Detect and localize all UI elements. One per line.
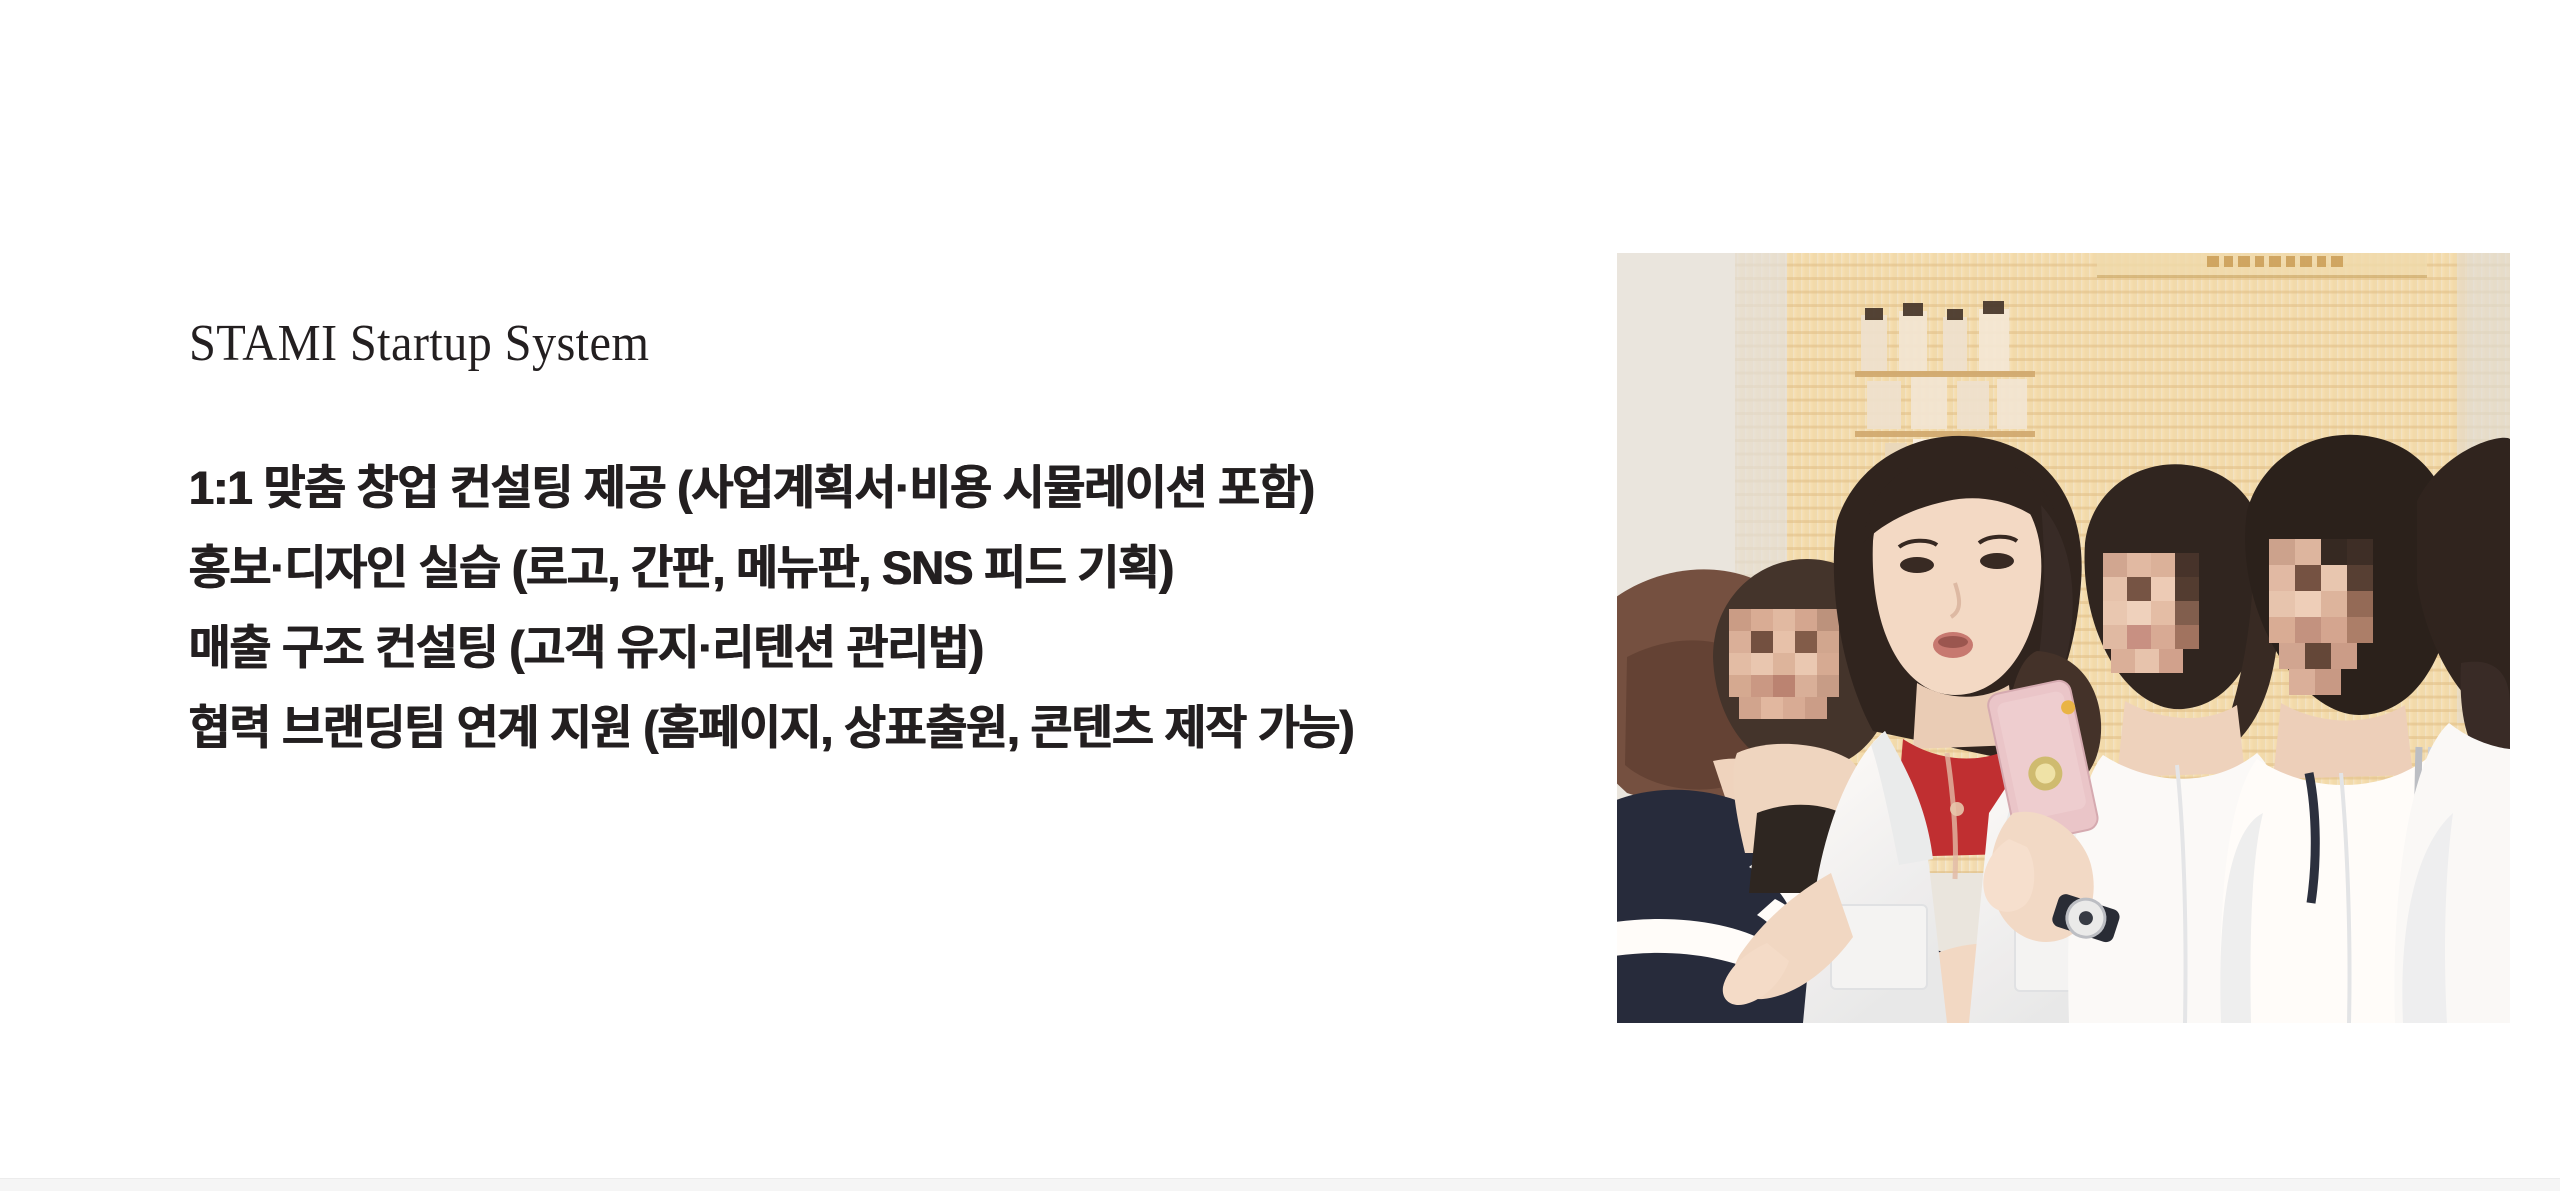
footer-band: [0, 1178, 2560, 1191]
list-item: 협력 브랜딩팀 연계 지원 (홈페이지, 상표출원, 콘텐츠 제작 가능): [189, 688, 1552, 768]
content-block: STAMI Startup System 1:1 맞춤 창업 컨설팅 제공 (사…: [189, 318, 1609, 768]
clinic-training-photo: [1617, 253, 2510, 1023]
list-item: 매출 구조 컨설팅 (고객 유지·리텐션 관리법): [189, 608, 1552, 688]
slide-canvas: STAMI Startup System 1:1 맞춤 창업 컨설팅 제공 (사…: [0, 0, 2560, 1178]
list-item: 홍보·디자인 실습 (로고, 간판, 메뉴판, SNS 피드 기획): [189, 528, 1552, 608]
list-item: 1:1 맞춤 창업 컨설팅 제공 (사업계획서·비용 시뮬레이션 포함): [189, 448, 1552, 528]
page-title: STAMI Startup System: [189, 318, 1510, 370]
feature-bullet-list: 1:1 맞춤 창업 컨설팅 제공 (사업계획서·비용 시뮬레이션 포함) 홍보·…: [189, 448, 1609, 768]
